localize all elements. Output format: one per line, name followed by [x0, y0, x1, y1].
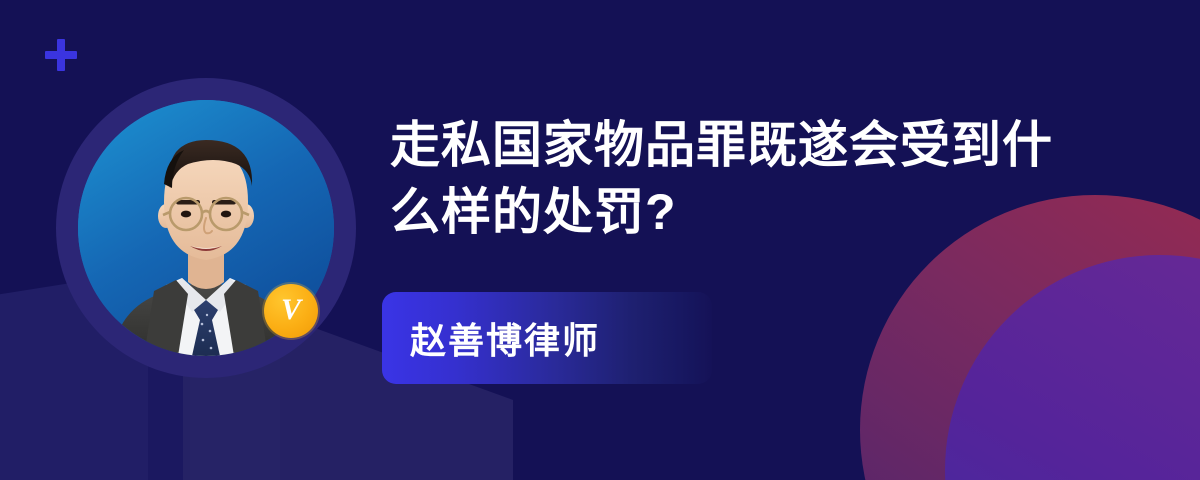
plus-icon-horizontal-bar [45, 51, 77, 59]
verified-badge-icon: V [264, 284, 318, 338]
verified-badge-mark: V [281, 295, 301, 325]
lawyer-name-badge[interactable]: 赵善博律师 [382, 292, 712, 384]
headline-block: 走私国家物品罪既遂会受到什么样的处罚? [390, 112, 1090, 246]
plus-icon [44, 38, 78, 72]
legal-qa-banner: V 走私国家物品罪既遂会受到什么样的处罚? 赵善博律师 [0, 0, 1200, 480]
lawyer-name-label: 赵善博律师 [410, 312, 600, 364]
avatar[interactable]: V [56, 78, 356, 378]
page-title: 走私国家物品罪既遂会受到什么样的处罚? [390, 112, 1062, 246]
